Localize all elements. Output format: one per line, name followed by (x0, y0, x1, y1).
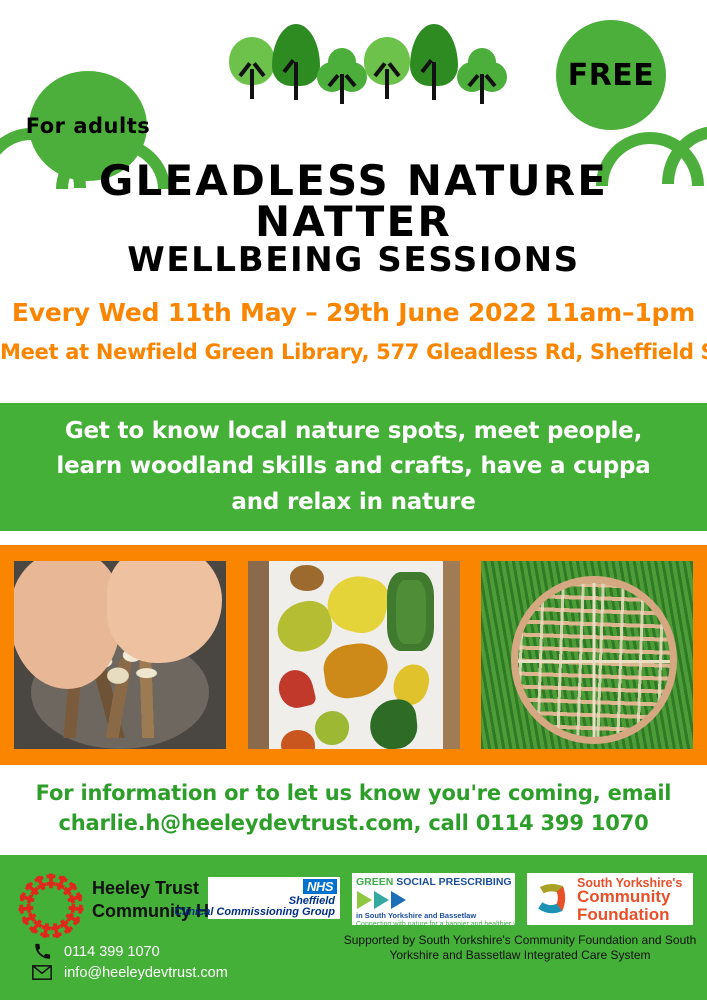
tree-icon-5 (410, 24, 458, 100)
green-social-prescribing-logo: GREEN SOCIAL PRESCRIBING in South Yorksh… (352, 873, 515, 925)
badge-free: FREE (556, 20, 666, 130)
arrow-icon-3 (391, 891, 406, 909)
photo-leaves (248, 561, 460, 749)
title-line-1: GLEADLESS NATURE (0, 160, 707, 201)
tree-icon-3 (317, 48, 367, 104)
supported-by-text: Supported by South Yorkshire's Community… (340, 933, 700, 963)
gsp-arrows (357, 891, 511, 909)
title-line-2: NATTER (0, 201, 707, 242)
tree-icon-2 (272, 24, 320, 100)
contact-line-1: For information or to let us know you're… (0, 778, 707, 808)
heeley-email-row: info@heeleydevtrust.com (30, 962, 228, 983)
heeley-phone: 0114 399 1070 (64, 944, 160, 960)
sycf-swirl-icon (531, 879, 571, 919)
arrow-icon-1 (357, 891, 372, 909)
title-line-3: WELLBEING SESSIONS (0, 244, 707, 277)
page-title: GLEADLESS NATURE NATTER WELLBEING SESSIO… (0, 160, 707, 278)
photo-strip (0, 545, 707, 765)
nhs-badge-text: NHS (303, 879, 337, 894)
banner-line-1: Get to know local nature spots, meet peo… (65, 414, 642, 450)
gsp-title-green: GREEN (356, 876, 393, 888)
sunburst-icon (14, 869, 88, 943)
heeley-trust-logo (14, 869, 88, 943)
photo-whittling (14, 561, 226, 749)
nhs-line-3: Clinical Commissioning Group (174, 906, 335, 918)
phone-icon (30, 942, 54, 962)
gsp-subtitle-2: Connecting with nature for a happier and… (356, 920, 511, 929)
tree-icon-1 (229, 37, 275, 99)
heeley-contact: 0114 399 1070 info@heeleydevtrust.com (30, 941, 228, 983)
badge-for-adults-label: For adults (26, 114, 150, 138)
footer: Heeley Trust Community Hub 0114 399 1070… (0, 855, 707, 1000)
contact-info: For information or to let us know you're… (0, 778, 707, 839)
banner-line-2: learn woodland skills and crafts, have a… (56, 449, 650, 485)
heeley-email: info@heeleydevtrust.com (64, 965, 228, 981)
description-banner: Get to know local nature spots, meet peo… (0, 403, 707, 531)
gsp-subtitle-1: in South Yorkshire and Bassetlaw (356, 911, 511, 920)
tree-icon-4 (364, 37, 410, 99)
photo-willow-weaving (481, 561, 693, 749)
schedule-where: Meet at Newfield Green Library, 577 Glea… (0, 340, 707, 364)
badge-free-label: FREE (568, 58, 655, 93)
envelope-icon (30, 963, 54, 983)
heeley-phone-row: 0114 399 1070 (30, 941, 228, 962)
sycf-line-2: Community (577, 888, 671, 906)
nhs-logo: NHS Sheffield Clinical Commissioning Gro… (208, 877, 340, 919)
sycf-logo: South Yorkshire's Community Foundation (527, 873, 693, 925)
top-decoration: For adults FREE (0, 0, 707, 175)
schedule-when: Every Wed 11th May – 29th June 2022 11am… (0, 298, 707, 327)
arrow-icon-2 (374, 891, 389, 909)
banner-line-3: and relax in nature (231, 485, 475, 521)
contact-line-2: charlie.h@heeleydevtrust.com, call 0114 … (0, 808, 707, 838)
sycf-line-3: Foundation (577, 906, 670, 924)
gsp-title-blue: SOCIAL PRESCRIBING (396, 876, 511, 888)
tree-icon-6 (457, 48, 507, 104)
poster: For adults FREE GLEADLESS NATURE NATTER … (0, 0, 707, 1000)
